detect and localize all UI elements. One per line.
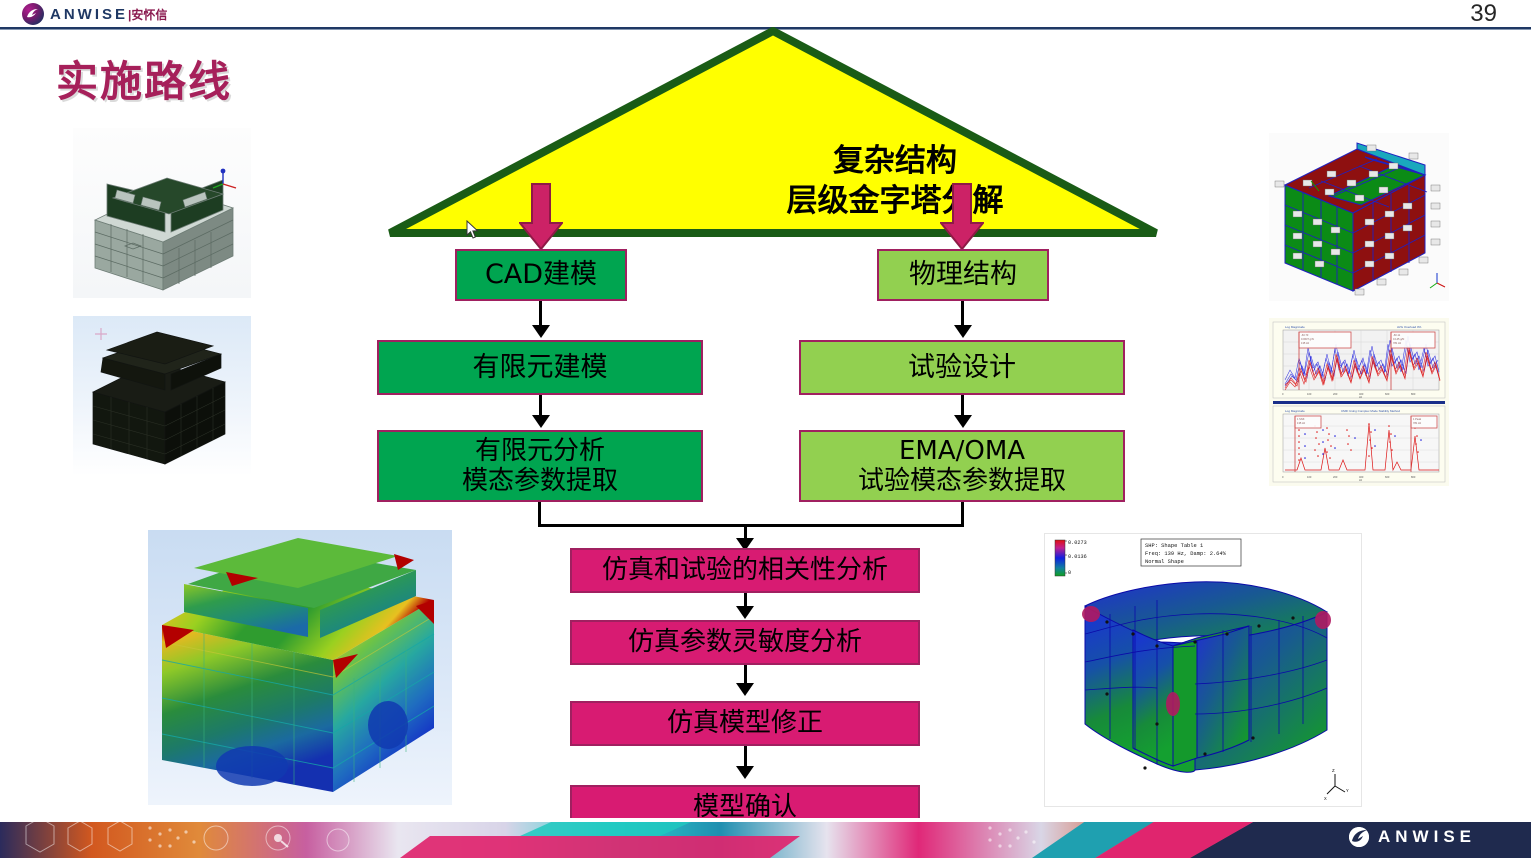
flow-box-label: 仿真参数灵敏度分析 [628, 627, 862, 657]
flow-box-sensitivity-analysis[interactable]: 仿真参数灵敏度分析 [570, 620, 920, 665]
flow-box-label-line1: 有限元分析 [475, 436, 605, 466]
header-logo-text: ANWISE|安怀信 [50, 7, 167, 22]
flow-box-test-design[interactable]: 试验设计 [799, 340, 1125, 395]
flow-box-label: 仿真和试验的相关性分析 [602, 555, 888, 585]
svg-text:Y: Y [1346, 788, 1349, 794]
flow-box-label-line2: 模态参数提取 [462, 466, 618, 496]
connector-line [744, 746, 747, 768]
svg-text:0.0637 g/N: 0.0637 g/N [1301, 337, 1314, 341]
svg-text:200: 200 [1333, 475, 1338, 479]
flow-box-ema-oma[interactable]: EMA/OMA 试验模态参数提取 [799, 430, 1125, 502]
connector-arrowhead [736, 683, 754, 696]
anwise-globe-icon [22, 3, 44, 25]
svg-text:135 Hz: 135 Hz [1297, 421, 1306, 425]
connector-arrowhead [532, 325, 550, 338]
svg-text:-63.73: -63.73 [1301, 333, 1309, 337]
svg-text:Log Magnitude: Log Magnitude [1285, 325, 1305, 329]
svg-text:600: 600 [1385, 392, 1390, 396]
svg-text:800: 800 [1411, 475, 1416, 479]
svg-text:-60.11: -60.11 [1393, 333, 1401, 337]
connector-arrowhead [954, 325, 972, 338]
colorbar-mid-label: 0.0136 [1068, 554, 1087, 560]
flow-box-label-line2: 试验模态参数提取 [858, 466, 1066, 496]
shape-label-line1: SHP: Shape Table 1 [1145, 543, 1203, 549]
slide-canvas: ANWISE|安怀信 39 实施路线 复杂结构 层级金字塔分解 C [0, 0, 1531, 858]
connector-line [961, 395, 964, 417]
brand-name-cn: 安怀信 [131, 8, 167, 22]
flow-box-fe-modeling[interactable]: 有限元建模 [377, 340, 703, 395]
svg-text:600: 600 [1385, 475, 1390, 479]
flow-box-fe-analysis[interactable]: 有限元分析 模态参数提取 [377, 430, 703, 502]
svg-text:200: 200 [1333, 392, 1338, 396]
svg-text:800: 800 [1411, 392, 1416, 396]
footer-logo: ANWISE [1349, 827, 1476, 847]
svg-text:135 Hz: 135 Hz [1301, 341, 1310, 345]
flow-box-label: CAD建模 [485, 259, 597, 290]
flow-box-label: 物理结构 [909, 259, 1017, 290]
slide-header: ANWISE|安怀信 39 [0, 0, 1531, 30]
merge-line-horizontal [538, 524, 964, 527]
svg-text:Log Magnitude: Log Magnitude [1285, 409, 1305, 413]
experimental-modal-shape-image: 0.0273 0.0136 0 SHP: Shape Table 1 Freq:… [1044, 533, 1362, 807]
connector-arrowhead [736, 606, 754, 619]
connector-arrowhead [736, 766, 754, 779]
pyramid-down-arrow-right [940, 183, 984, 256]
cad-assembly-image [73, 128, 251, 298]
svg-text:AVG Overload 0%: AVG Overload 0% [1397, 325, 1422, 329]
flow-box-label: 试验设计 [908, 352, 1016, 383]
pyramid-label-line1: 复杂结构 [685, 142, 1105, 182]
connector-line [744, 665, 747, 685]
slide-footer: ANWISE [0, 818, 1531, 858]
connector-arrowhead [954, 415, 972, 428]
flow-box-label: 仿真模型修正 [667, 708, 823, 738]
svg-text:CMIF Using Complex Mode Stabil: CMIF Using Complex Mode Stability Method [1341, 409, 1400, 413]
svg-text:1 Shift: 1 Shift [1297, 417, 1305, 421]
footer-brand-name: ANWISE [1378, 827, 1476, 847]
page-number: 39 [1470, 0, 1497, 28]
test-geometry-measurement-points-image [1269, 133, 1449, 301]
svg-text:X: X [1324, 796, 1327, 802]
pyramid-down-arrow-left [519, 183, 563, 256]
flow-box-correlation-analysis[interactable]: 仿真和试验的相关性分析 [570, 548, 920, 593]
finite-element-mesh-image [73, 316, 251, 476]
shape-label-line3: Normal Shape [1145, 559, 1184, 565]
fea-mode-shape-contour-image [148, 530, 452, 805]
connector-line [539, 395, 542, 417]
svg-text:0.145 g/N: 0.145 g/N [1393, 337, 1404, 341]
svg-text:1 Peak: 1 Peak [1413, 417, 1422, 421]
svg-text:Z: Z [1332, 768, 1335, 774]
shape-label-line2: Freq: 139 Hz, Damp: 2.64% [1145, 551, 1227, 557]
flow-box-label-line1: EMA/OMA [899, 436, 1025, 466]
brand-name: ANWISE [50, 6, 128, 23]
connector-line [539, 301, 542, 327]
flow-box-label: 有限元建模 [473, 352, 608, 383]
connector-line [961, 301, 964, 327]
flow-box-model-updating[interactable]: 仿真模型修正 [570, 701, 920, 746]
svg-text:100: 100 [1307, 475, 1312, 479]
flow-box-cad-modeling[interactable]: CAD建模 [455, 249, 627, 301]
svg-text:781 Hz: 781 Hz [1393, 341, 1402, 345]
connector-arrowhead [532, 415, 550, 428]
pyramid-label: 复杂结构 层级金字塔分解 [685, 142, 1105, 221]
svg-text:100: 100 [1307, 392, 1312, 396]
header-logo: ANWISE|安怀信 [22, 3, 167, 25]
flow-box-physical-structure[interactable]: 物理结构 [877, 249, 1049, 301]
colorbar-bottom-label: 0 [1068, 570, 1071, 576]
mouse-cursor-icon [466, 220, 480, 245]
svg-text:781 Hz: 781 Hz [1413, 421, 1422, 425]
pyramid-label-line2: 层级金字塔分解 [685, 182, 1105, 222]
pyramid-shape: 复杂结构 层级金字塔分解 [385, 27, 1160, 237]
page-title: 实施路线 [56, 48, 232, 109]
anwise-globe-icon [1349, 827, 1369, 847]
frf-stability-diagram-image: -63.730.0637 g/N135 Hz -60.110.145 g/N78… [1269, 318, 1449, 486]
colorbar-top-label: 0.0273 [1068, 540, 1087, 546]
